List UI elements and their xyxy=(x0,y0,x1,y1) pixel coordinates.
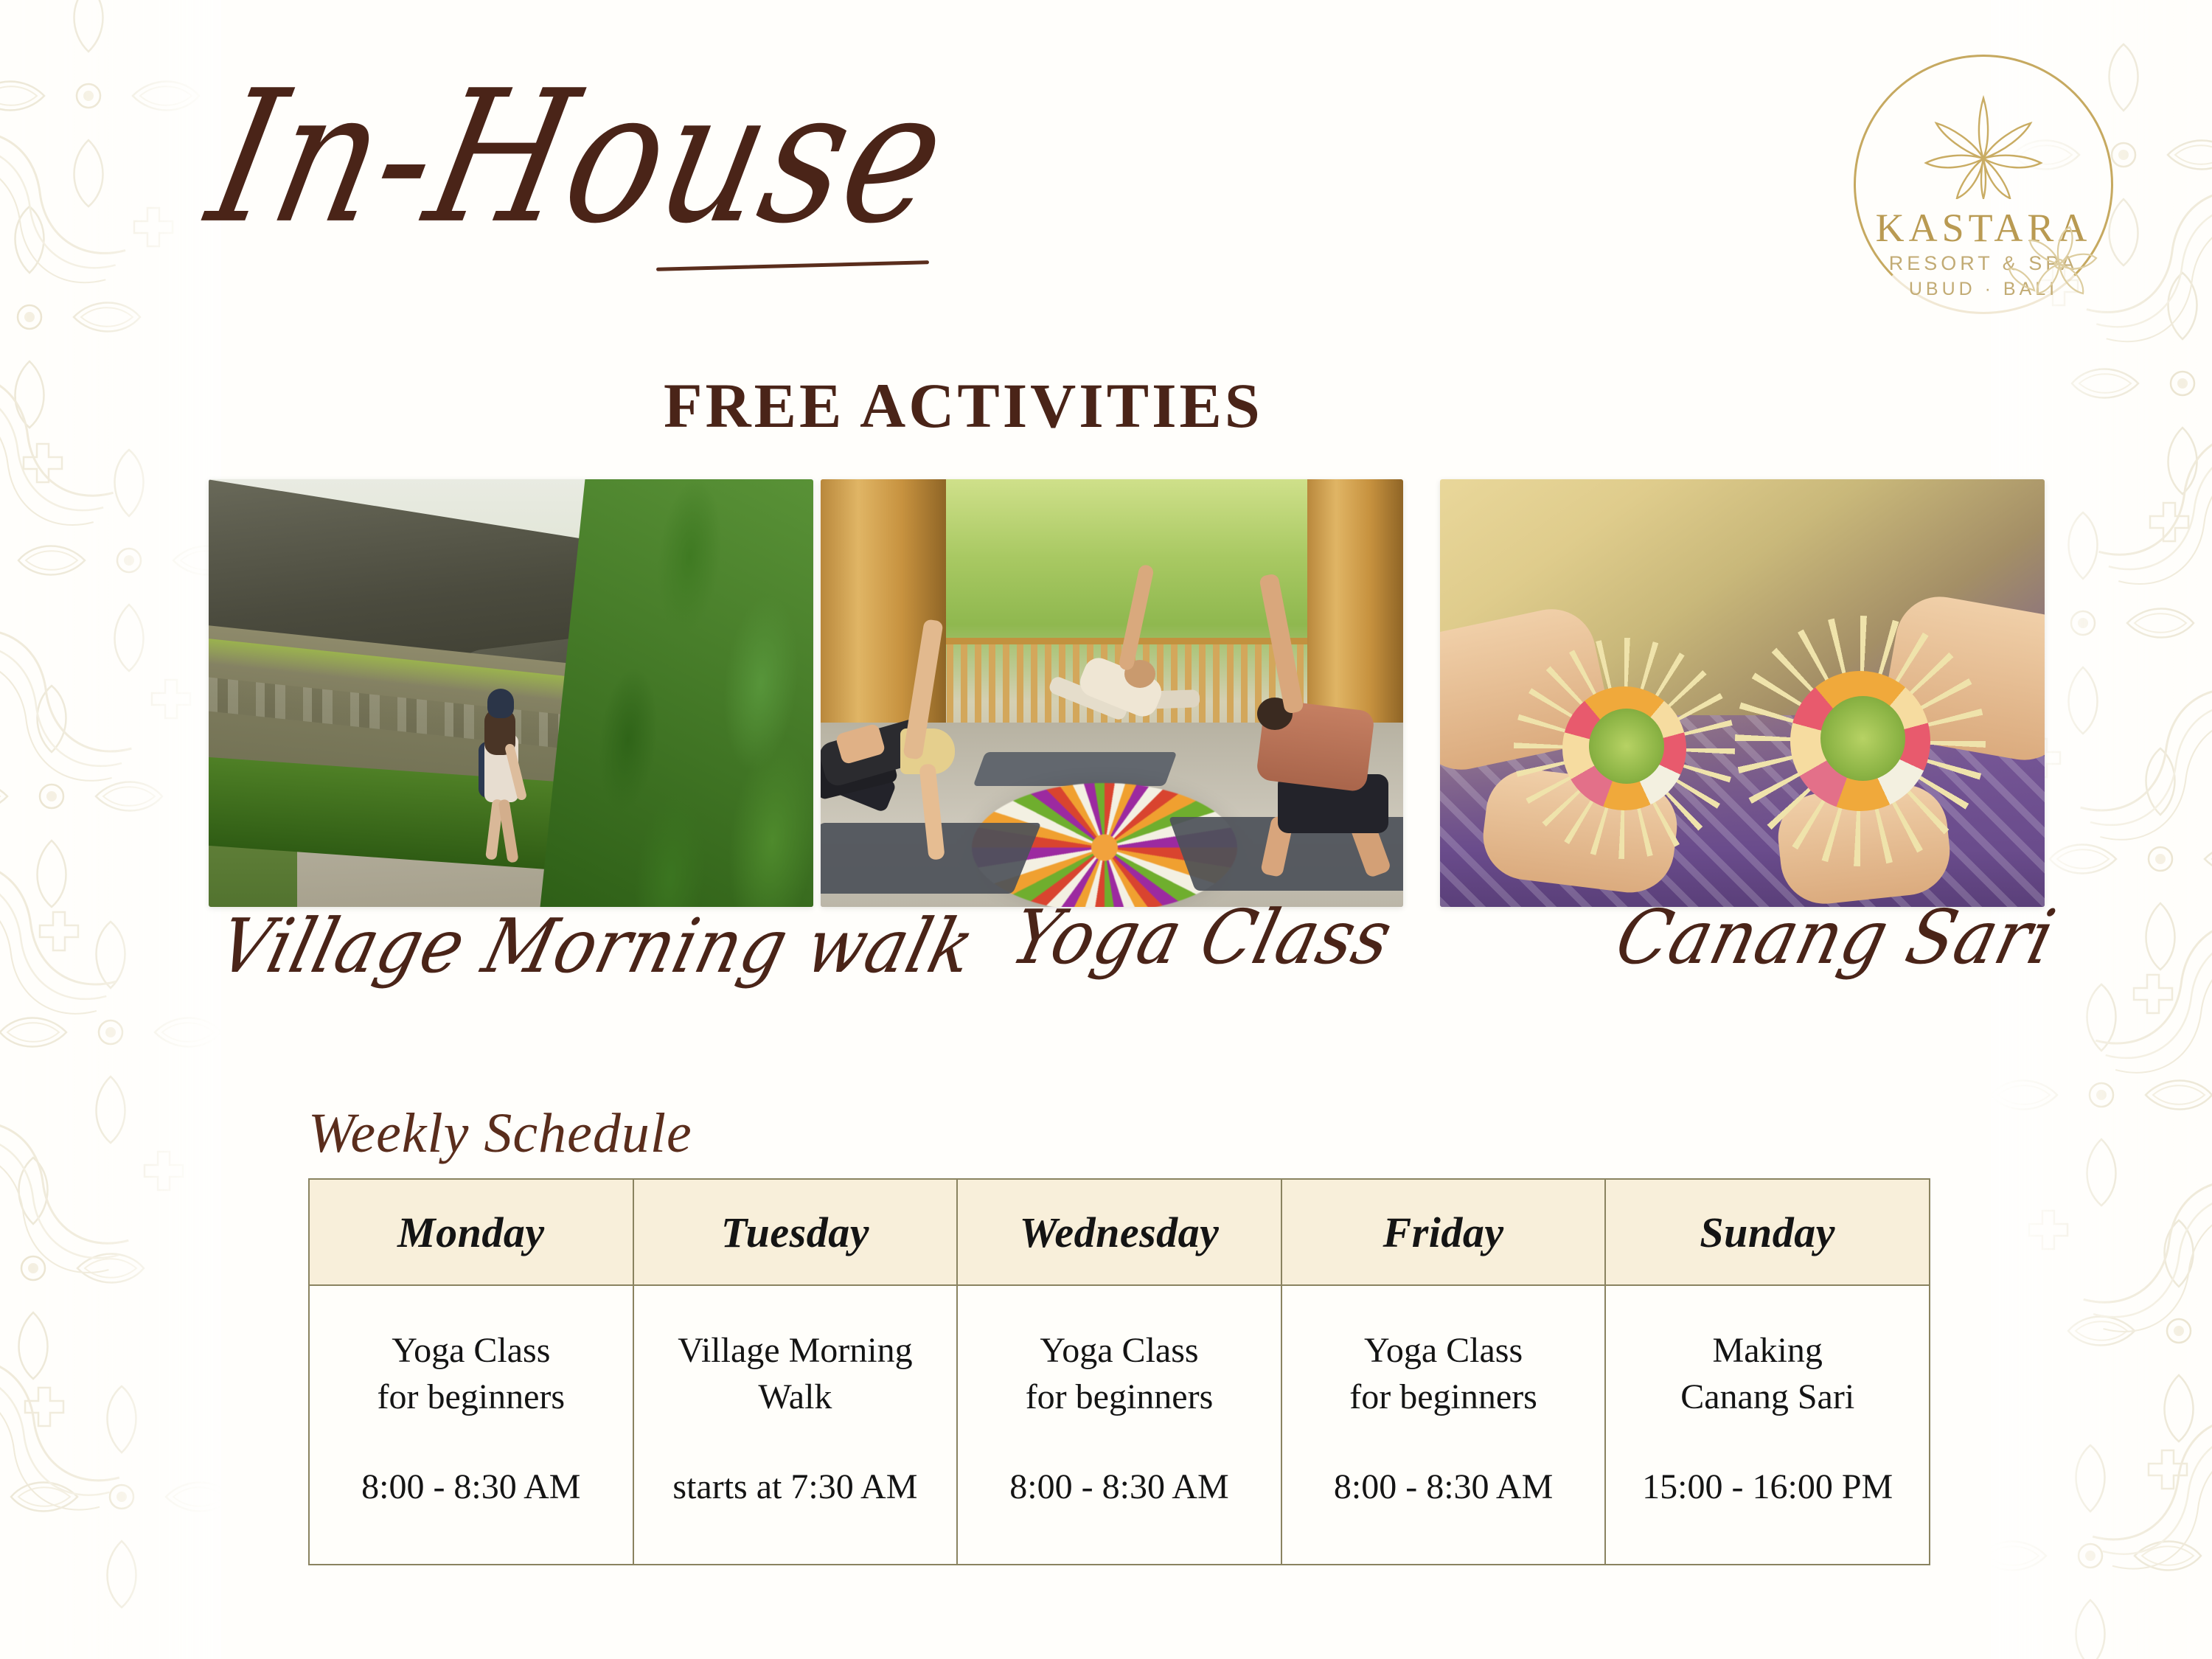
schedule-column-header-friday: Friday xyxy=(1281,1179,1606,1285)
star-flower-icon xyxy=(1913,88,2053,203)
schedule-column-header-sunday: Sunday xyxy=(1605,1179,1930,1285)
schedule-body-row: Yoga Class for beginners 8:00 - 8:30 AM … xyxy=(309,1285,1930,1565)
weekly-schedule-table: Monday Tuesday Wednesday Friday Sunday Y… xyxy=(308,1178,1930,1565)
caption-yoga-class: Yoga Class xyxy=(1003,894,1401,981)
schedule-column-header-tuesday: Tuesday xyxy=(633,1179,958,1285)
schedule-activity-wednesday: Yoga Class for beginners xyxy=(959,1327,1280,1421)
schedule-column-header-monday: Monday xyxy=(309,1179,633,1285)
activity-card-village-morning-walk[interactable] xyxy=(209,479,813,907)
schedule-activity-tuesday: Village Morning Walk xyxy=(635,1327,956,1421)
schedule-cell-friday: Yoga Class for beginners 8:00 - 8:30 AM xyxy=(1281,1285,1606,1565)
caption-canang-sari: Canang Sari xyxy=(1607,894,2063,981)
canang-sari-offerings-photo xyxy=(1440,479,2045,907)
activity-photo-row xyxy=(0,479,2212,936)
schedule-cell-monday: Yoga Class for beginners 8:00 - 8:30 AM xyxy=(309,1285,633,1565)
frangipani-flower-icon xyxy=(2008,215,2107,311)
schedule-cell-sunday: Making Canang Sari 15:00 - 16:00 PM xyxy=(1605,1285,1930,1565)
schedule-column-header-wednesday: Wednesday xyxy=(957,1179,1281,1285)
schedule-header-row: Monday Tuesday Wednesday Friday Sunday xyxy=(309,1179,1930,1285)
schedule-activity-monday: Yoga Class for beginners xyxy=(310,1327,632,1421)
schedule-cell-wednesday: Yoga Class for beginners 8:00 - 8:30 AM xyxy=(957,1285,1281,1565)
page-title-block: In-House FREE ACTIVITIES xyxy=(221,66,1327,376)
page-title: In-House xyxy=(197,66,960,249)
outdoor-yoga-class-photo xyxy=(821,479,1403,907)
schedule-time-wednesday: 8:00 - 8:30 AM xyxy=(959,1464,1280,1510)
page-subtitle: FREE ACTIVITIES xyxy=(664,369,1263,442)
schedule-activity-sunday: Making Canang Sari xyxy=(1607,1327,1928,1421)
brand-logo: KASTARA RESORT & SPA UBUD · BALI xyxy=(1843,44,2124,324)
caption-village-morning-walk: Village Morning walk xyxy=(210,903,983,990)
schedule-title: Weekly Schedule xyxy=(308,1102,692,1166)
schedule-time-monday: 8:00 - 8:30 AM xyxy=(310,1464,632,1510)
schedule-activity-friday: Yoga Class for beginners xyxy=(1283,1327,1604,1421)
activity-card-yoga-class[interactable] xyxy=(821,479,1403,907)
schedule-cell-tuesday: Village Morning Walk starts at 7:30 AM xyxy=(633,1285,958,1565)
poster-canvas: In-House FREE ACTIVITIES KASTARA RESOR xyxy=(0,0,2212,1659)
activity-card-canang-sari[interactable] xyxy=(1440,479,2045,907)
schedule-time-friday: 8:00 - 8:30 AM xyxy=(1283,1464,1604,1510)
balinese-village-temple-walk-photo xyxy=(209,479,813,907)
schedule-time-tuesday: starts at 7:30 AM xyxy=(635,1464,956,1510)
schedule-time-sunday: 15:00 - 16:00 PM xyxy=(1607,1464,1928,1510)
